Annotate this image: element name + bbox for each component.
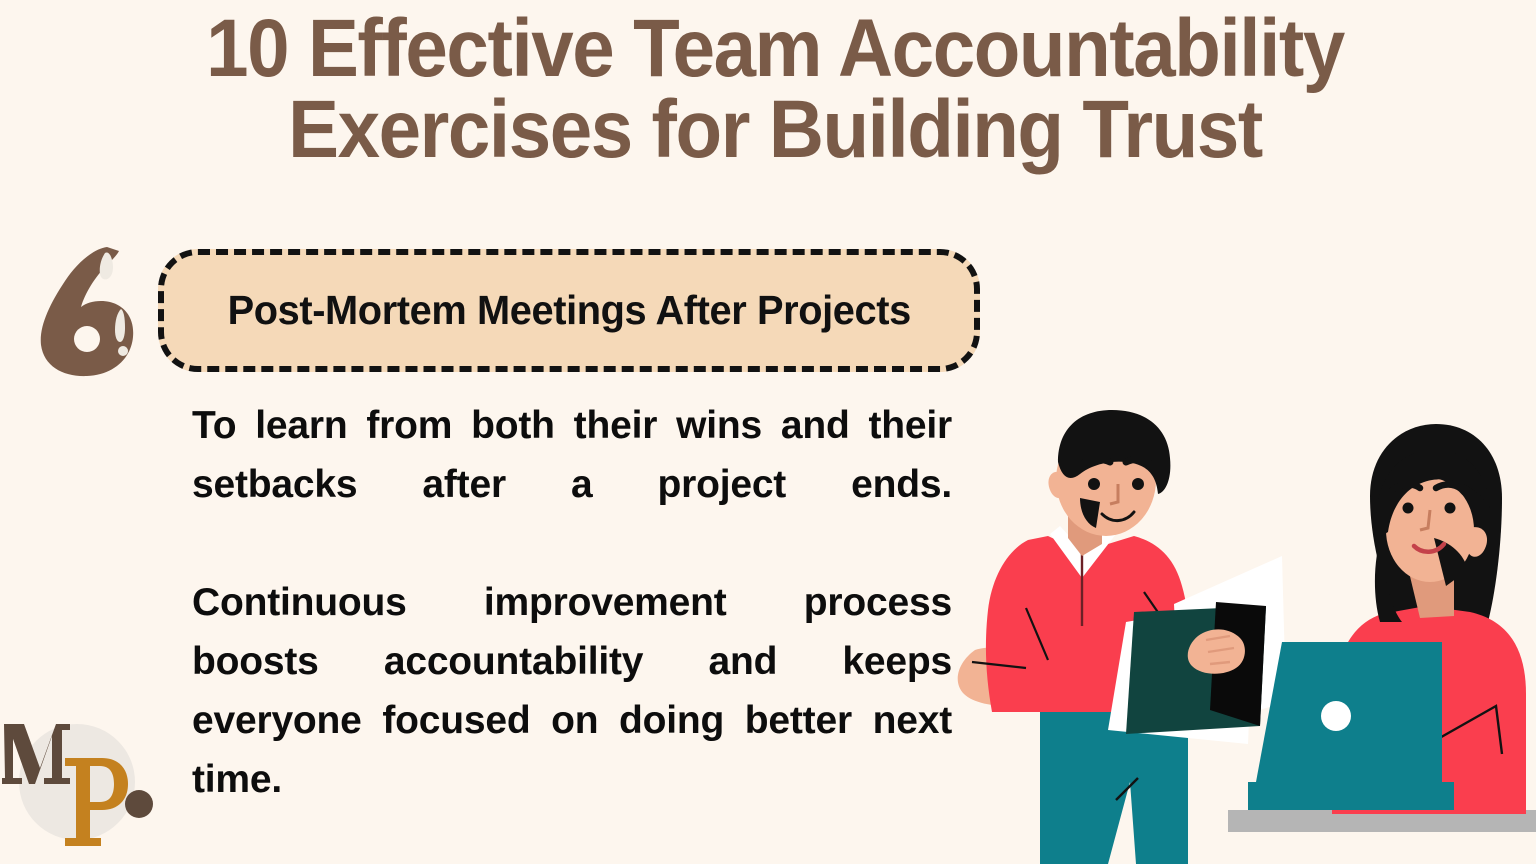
item-number-badge: 6 (33, 243, 145, 377)
man-eye-right (1132, 478, 1144, 490)
item-heading-label: Post-Mortem Meetings After Projects (227, 287, 910, 334)
man-eye-left (1088, 478, 1100, 490)
woman-eye-left (1403, 503, 1414, 514)
laptop-logo-icon (1321, 701, 1351, 731)
logo-period-dot (125, 790, 153, 818)
item-body-copy: To learn from both their wins and their … (192, 396, 952, 864)
brand-logo[interactable]: MILLIE PHAM (2, 706, 172, 858)
page-title: 10 Effective Team Accountability Exercis… (129, 8, 1422, 170)
page-title-line-1: 10 Effective Team Accountability (129, 8, 1422, 89)
page-title-line-2: Exercises for Building Trust (129, 89, 1422, 170)
item-body-paragraph-1: To learn from both their wins and their … (192, 396, 952, 573)
illustration-two-coworkers (930, 410, 1536, 864)
woman-eye-right (1445, 503, 1456, 514)
slide-canvas: 10 Effective Team Accountability Exercis… (0, 0, 1536, 864)
item-body-paragraph-2: Continuous improvement process boosts ac… (192, 573, 952, 864)
item-heading-card: Post-Mortem Meetings After Projects (158, 249, 980, 372)
laptop-base (1248, 782, 1454, 810)
illustration-laptop (1248, 642, 1454, 810)
